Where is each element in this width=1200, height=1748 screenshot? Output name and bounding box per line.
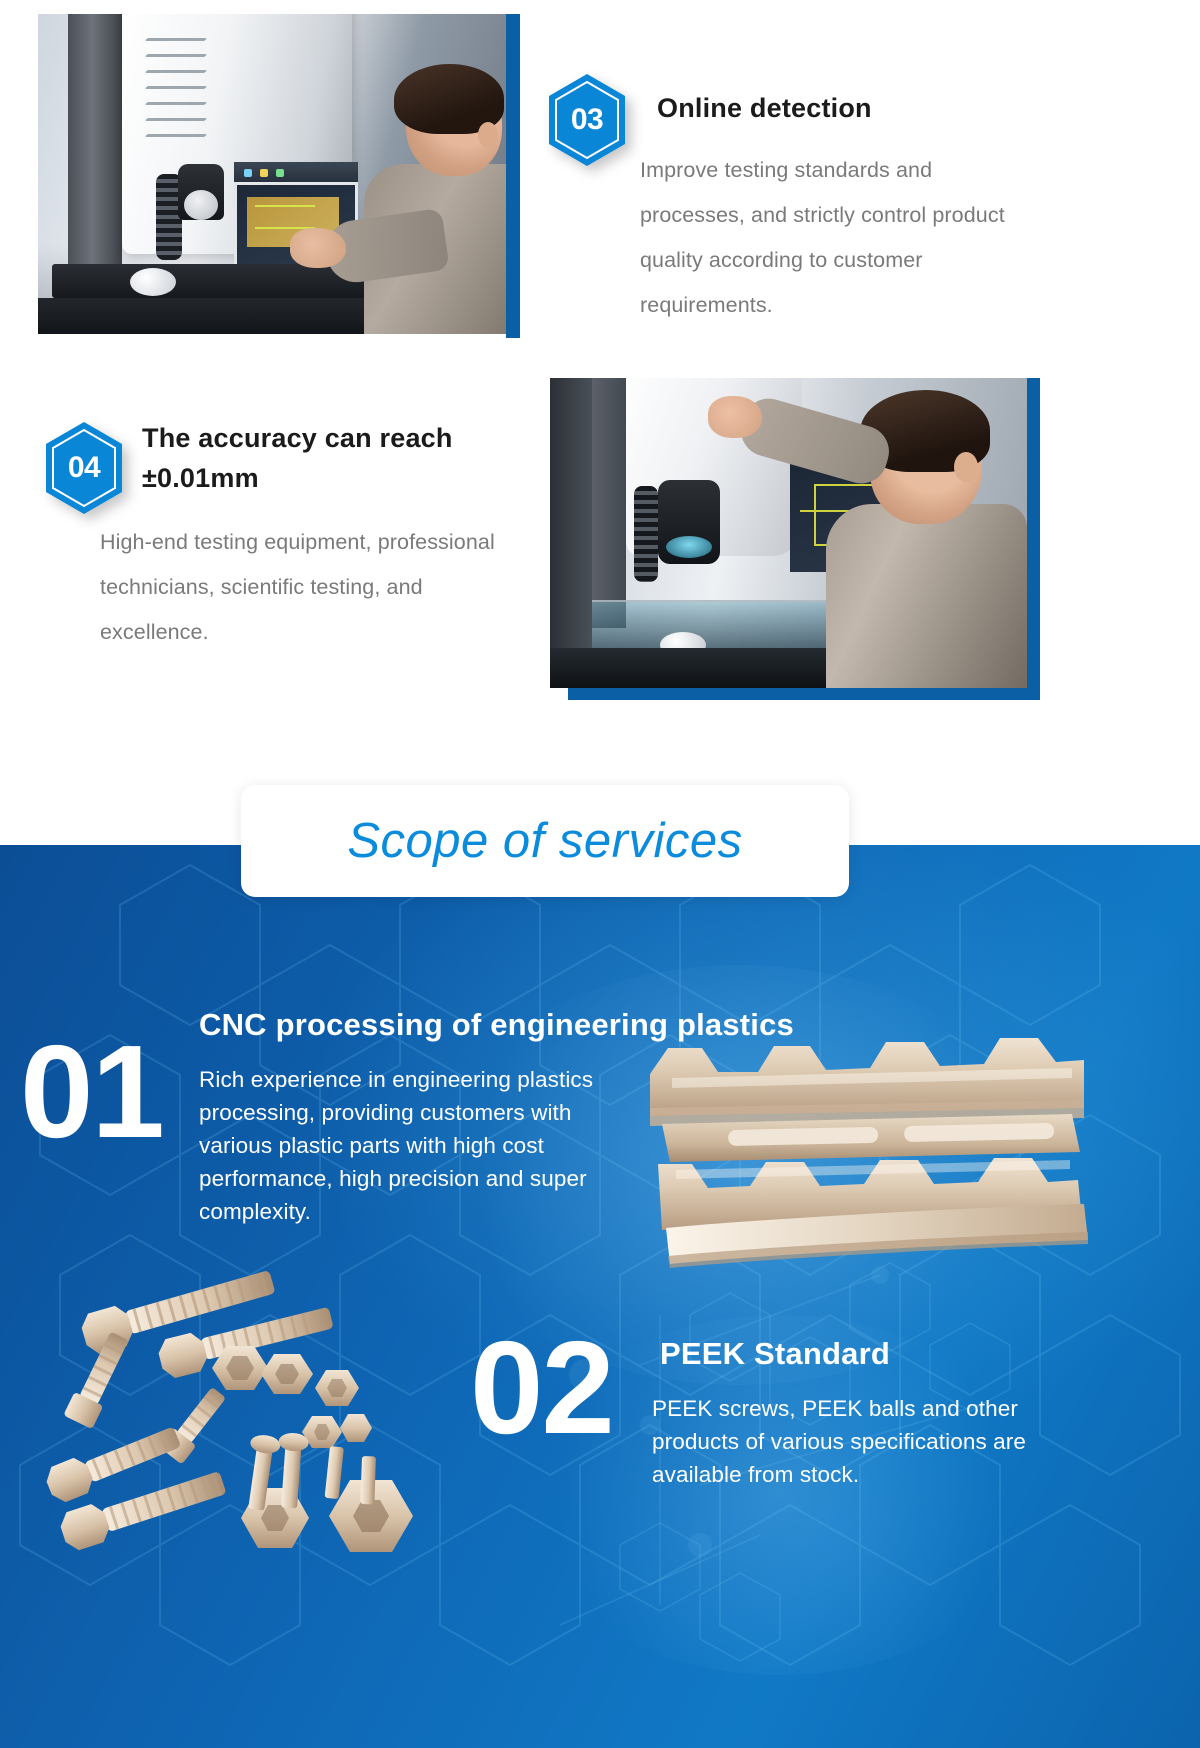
hex-badge-03-number: 03 xyxy=(545,72,629,168)
hex-badge-04-number: 04 xyxy=(42,420,126,516)
photo-frame-accent-bar-right xyxy=(1027,378,1040,700)
operator-figure xyxy=(360,66,506,334)
scope-of-services-title: Scope of services xyxy=(347,813,742,869)
peek-screws-nuts-bolts-photo xyxy=(30,1268,460,1568)
feature-03-photo-frame xyxy=(38,14,520,338)
technician-measuring-photo xyxy=(550,378,1027,688)
optical-measuring-machine-photo xyxy=(38,14,506,334)
photo-frame-accent-bar xyxy=(506,14,520,338)
service-01-number: 01 xyxy=(20,1026,163,1158)
service-02-number: 02 xyxy=(470,1322,613,1454)
machine-control-panel xyxy=(234,162,358,184)
feature-03-body: Improve testing standards and processes,… xyxy=(640,148,1035,328)
machine-base xyxy=(38,298,398,334)
feature-04-body: High-end testing equipment, professional… xyxy=(100,520,530,655)
machined-peek-plastic-part-photo xyxy=(632,1012,1100,1280)
technician-figure xyxy=(826,378,1027,688)
machine-cable-coil xyxy=(634,486,658,582)
hex-badge-04: 04 xyxy=(42,420,126,516)
machine-left-panel xyxy=(550,378,592,688)
service-02-body: PEEK screws, PEEK balls and other produc… xyxy=(652,1392,1072,1491)
feature-03-title: Online detection xyxy=(657,66,1155,128)
photo-frame-accent-bar-bottom xyxy=(568,688,1040,700)
machine-roller xyxy=(130,268,176,296)
scope-of-services-banner: Scope of services xyxy=(241,785,849,897)
service-02-title: PEEK Standard xyxy=(660,1336,890,1372)
feature-04-block: 04 The accuracy can reach ±0.01mm High-e… xyxy=(42,412,522,655)
machine-vents xyxy=(146,38,206,148)
hex-badge-03: 03 xyxy=(545,72,629,168)
service-01-body: Rich experience in engineering plastics … xyxy=(199,1063,649,1228)
machine-column xyxy=(592,378,626,628)
feature-04-photo-frame xyxy=(550,378,1040,700)
machine-lens xyxy=(658,480,720,564)
machine-lens xyxy=(178,164,224,220)
feature-03-block: 03 Online detection Improve testing stan… xyxy=(545,66,1155,328)
top-features-section: 03 Online detection Improve testing stan… xyxy=(0,0,1200,845)
feature-04-title: The accuracy can reach ±0.01mm xyxy=(142,412,502,498)
